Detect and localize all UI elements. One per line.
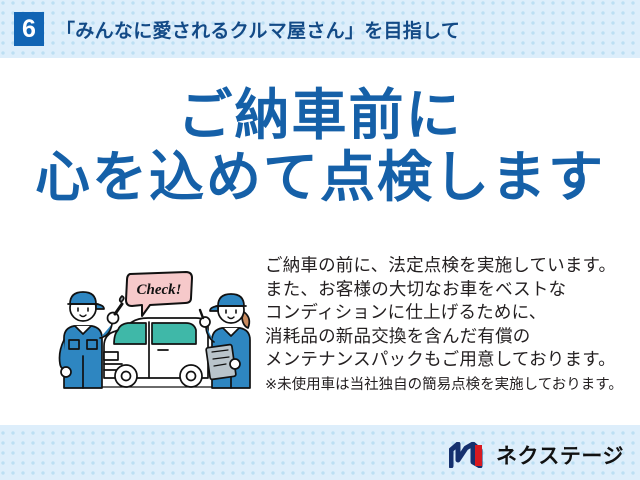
body-line-4: 消耗品の新品交換を含んだ有償の (265, 325, 637, 349)
body-note: ※未使用車は当社独自の簡易点検を実施しております。 (265, 374, 637, 396)
body-line-3: コンディションに仕上げるために、 (265, 301, 637, 325)
lower-content: Check! ご納車の前に、法定点検を実施しています。 また、お客様の大切なお車… (0, 254, 640, 414)
content-panel: ご納車前に 心を込めて点検します (0, 58, 640, 425)
headline-line-2: 心を込めて点検します (0, 146, 640, 208)
brand-name: ネクステージ (496, 440, 624, 470)
body-line-5: メンテナンスパックもご用意しております。 (265, 348, 637, 372)
body-line-1: ご納車の前に、法定点検を実施しています。 (265, 254, 637, 278)
header-title: 「みんなに愛されるクルマ屋さん」を目指して (56, 16, 460, 43)
check-bubble-label: Check! (137, 282, 182, 298)
header-bar: 6 「みんなに愛されるクルマ屋さん」を目指して (0, 0, 640, 58)
body-line-2: また、お客様の大切なお車をベストな (265, 278, 637, 302)
advertisement-banner: 6 「みんなに愛されるクルマ屋さん」を目指して ご納車前に 心を込めて点検します (0, 0, 640, 480)
nextage-n-icon (449, 442, 489, 468)
car-shape (98, 318, 218, 387)
mechanics-illustration: Check! (58, 260, 258, 400)
headline-line-1: ご納車前に (0, 84, 640, 146)
section-number-badge: 6 (14, 12, 44, 46)
brand-logo: ネクステージ (449, 440, 624, 470)
body-copy: ご納車の前に、法定点検を実施しています。 また、お客様の大切なお車をベストな コ… (265, 254, 637, 396)
page-title: ご納車前に 心を込めて点検します (0, 84, 640, 208)
